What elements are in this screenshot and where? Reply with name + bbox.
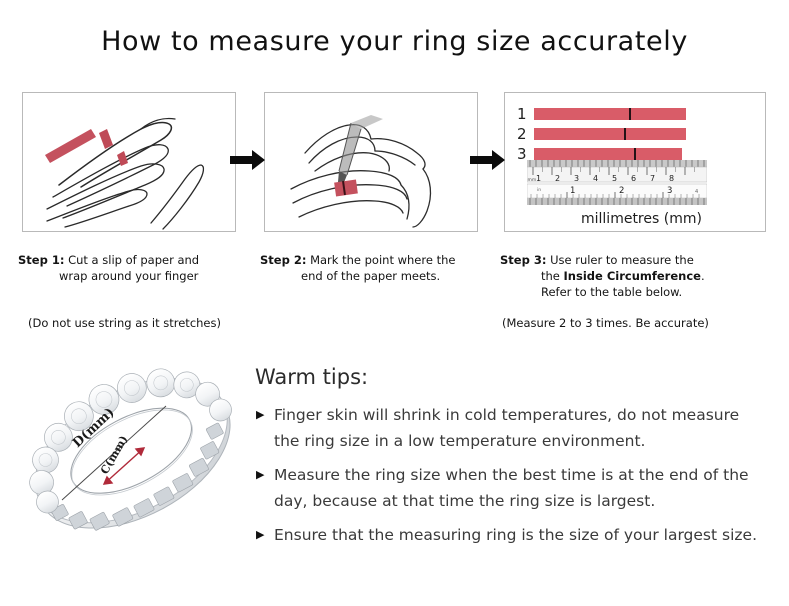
warm-tips-title: Warm tips:	[255, 365, 368, 389]
ruler-unit-label: millimetres (mm)	[581, 211, 702, 227]
step-2-caption: Step 2: Mark the point where the end of …	[260, 252, 500, 284]
ruler-graphic: 1 2 3 4 5 6 7 8 mm 1 2 3 in 4	[527, 160, 707, 208]
svg-text:mm: mm	[528, 178, 537, 183]
step-1-panel	[22, 92, 236, 232]
tip-text: Measure the ring size when the best time…	[274, 462, 766, 514]
tip-text: Finger skin will shrink in cold temperat…	[274, 402, 766, 454]
step-1-note: (Do not use string as it stretches)	[28, 316, 221, 330]
list-item: ▶ Finger skin will shrink in cold temper…	[256, 402, 766, 454]
hand-marking-paper-with-pen-illustration	[265, 93, 477, 231]
paper-strip-wrapped	[99, 129, 128, 166]
svg-text:3: 3	[667, 186, 672, 196]
step-1-line2: wrap around your finger	[18, 268, 258, 284]
step-arrow-2-to-3	[470, 148, 506, 172]
step-3-line1: Use ruler to measure the	[550, 253, 694, 267]
svg-text:6: 6	[631, 174, 636, 183]
svg-text:5: 5	[612, 174, 617, 183]
strip-mark	[629, 108, 631, 120]
strip-number: 2	[517, 125, 534, 143]
strip-bar	[534, 108, 686, 120]
page-title: How to measure your ring size accurately	[0, 26, 789, 57]
tip-text: Ensure that the measuring ring is the si…	[274, 522, 757, 548]
step-3-line2: the Inside Circumference.	[500, 268, 770, 284]
step-3-lead: Step 3:	[500, 253, 546, 267]
svg-text:1: 1	[570, 186, 575, 196]
strip-number: 1	[517, 105, 534, 123]
triangle-bullet-icon: ▶	[256, 402, 274, 428]
step-1-caption: Step 1: Cut a slip of paper and wrap aro…	[18, 252, 258, 284]
svg-text:2: 2	[619, 186, 624, 196]
step-2-lead: Step 2:	[260, 253, 306, 267]
step-1-line1: Cut a slip of paper and	[68, 253, 199, 267]
strip-mark	[634, 148, 636, 160]
step-3-line2-suffix: .	[701, 269, 705, 283]
svg-text:4: 4	[695, 189, 698, 195]
strip-mark	[624, 128, 626, 140]
list-item: ▶ Measure the ring size when the best ti…	[256, 462, 766, 514]
svg-text:7: 7	[650, 174, 655, 183]
paper-strip-marked	[334, 180, 358, 197]
step-3-line3: Refer to the table below.	[500, 284, 770, 300]
hand-with-paper-strip-illustration	[23, 93, 235, 231]
eternity-ring-illustration	[18, 348, 250, 563]
svg-text:4: 4	[593, 174, 598, 183]
warm-tips-list: ▶ Finger skin will shrink in cold temper…	[256, 402, 766, 556]
step-3-caption: Step 3: Use ruler to measure the the Ins…	[500, 252, 770, 300]
svg-text:8: 8	[669, 174, 674, 183]
step-2-line1: Mark the point where the	[310, 253, 455, 267]
strip-bar	[534, 128, 686, 140]
paper-strip-loose	[45, 129, 96, 163]
ring-diagram	[18, 348, 250, 563]
step-3-note: (Measure 2 to 3 times. Be accurate)	[502, 316, 709, 330]
strip-bar	[534, 148, 682, 160]
svg-text:2: 2	[555, 174, 560, 183]
inside-circumference-emphasis: Inside Circumference	[564, 269, 701, 283]
measure-strip-row: 1	[517, 105, 686, 123]
step-2-panel	[264, 92, 478, 232]
step-3-panel: 1 2 3	[504, 92, 766, 232]
step-2-line2: end of the paper meets.	[260, 268, 500, 284]
step-3-line2-prefix: the	[541, 269, 564, 283]
measure-strip-row: 2	[517, 125, 686, 143]
triangle-bullet-icon: ▶	[256, 462, 274, 488]
list-item: ▶ Ensure that the measuring ring is the …	[256, 522, 766, 548]
step-arrow-1-to-2	[230, 148, 266, 172]
svg-text:1: 1	[536, 174, 541, 183]
triangle-bullet-icon: ▶	[256, 522, 274, 548]
svg-text:3: 3	[574, 174, 579, 183]
step-1-lead: Step 1:	[18, 253, 64, 267]
svg-text:in: in	[537, 187, 541, 193]
